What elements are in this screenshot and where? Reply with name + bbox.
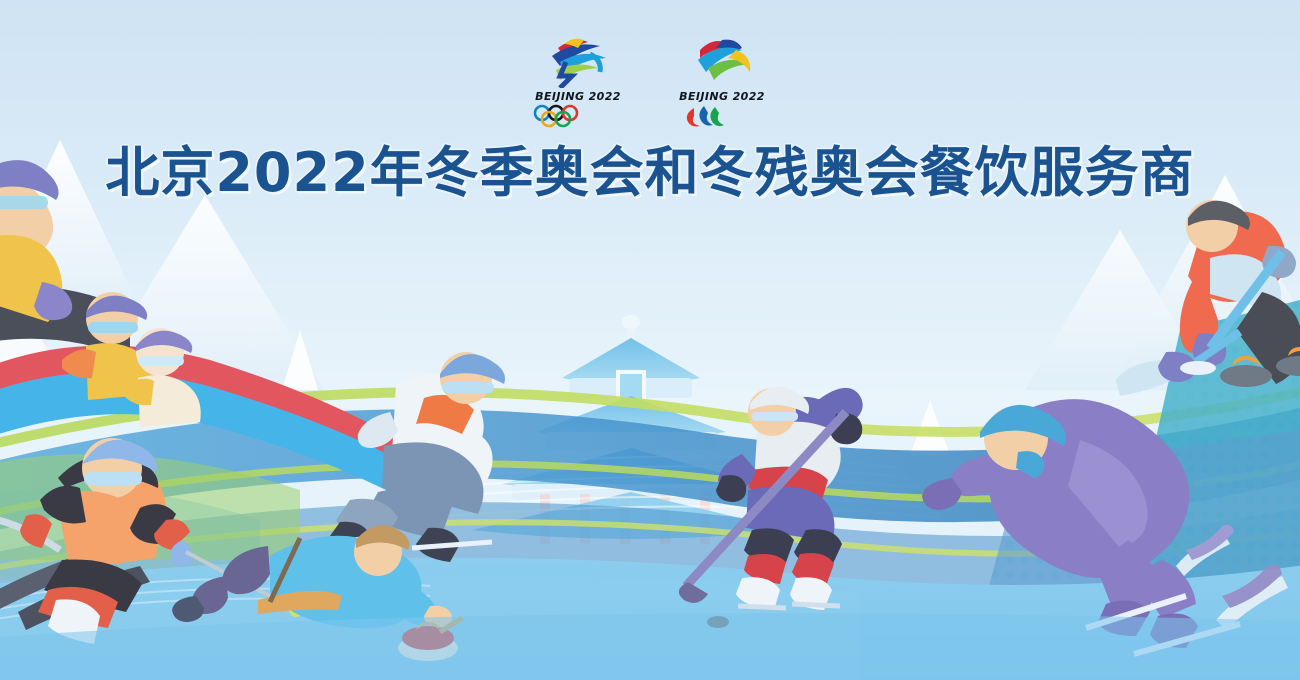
logo-row: BEIJING 2022 BEIJING 2022 (0, 32, 1300, 128)
olympic-banner: BEIJING 2022 BEIJING 2022 (0, 0, 1300, 680)
beijing-2022-olympic-logo: BEIJING 2022 (530, 32, 626, 128)
paralympic-emblem-icon (674, 32, 770, 88)
page-title: 北京2022年冬季奥会和冬残奥会餐饮服务商 (105, 140, 1194, 206)
olympic-logo-wordmark: BEIJING 2022 (530, 90, 626, 103)
agitos-icon (674, 104, 738, 128)
olympic-rings-icon (530, 104, 594, 128)
paralympic-logo-wordmark: BEIJING 2022 (674, 90, 770, 103)
beijing-2022-paralympic-logo: BEIJING 2022 (674, 32, 770, 128)
page-title-wrap: 北京2022年冬季奥会和冬残奥会餐饮服务商 (0, 140, 1300, 206)
olympic-emblem-icon (530, 32, 626, 88)
